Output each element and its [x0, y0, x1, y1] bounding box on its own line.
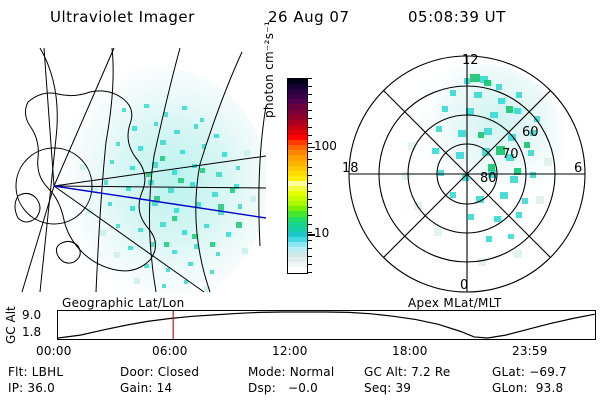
colorbar-axis-label: photon cm⁻²s⁻¹ [262, 0, 276, 118]
colorbar-tick-label: 10 [314, 228, 329, 238]
altitude-tick-high: 9.0 [22, 308, 41, 322]
altitude-curve-svg [58, 311, 595, 339]
colorbar-minor-tick [307, 215, 312, 216]
colorbar-minor-tick [307, 191, 312, 192]
colorbar-minor-tick [307, 118, 312, 119]
mlt-label-0: 0 [460, 278, 468, 293]
altitude-tick-low: 1.8 [22, 325, 41, 339]
time-tick-0600: 06:00 [152, 344, 188, 358]
altitude-axis-label: GC Alt [4, 284, 18, 344]
status-door: Door: Closed [120, 365, 199, 379]
colorbar-minor-tick [307, 167, 312, 168]
observation-date: 26 Aug 07 [268, 8, 350, 26]
colorbar-minor-tick [307, 110, 312, 111]
mlt-label-6: 6 [574, 161, 582, 176]
colorbar-minor-tick [307, 159, 312, 160]
polar-aurora-layer [394, 64, 566, 266]
mlat-ring-label-70: 70 [502, 147, 519, 162]
right-panel-title: Apex MLat/MLT [408, 296, 502, 310]
colorbar-minor-tick [307, 102, 312, 103]
colorbar-minor-tick [307, 272, 312, 273]
status-gain: Gain: 14 [120, 381, 172, 395]
status-seq: Seq: 39 [364, 381, 411, 395]
colorbar-minor-tick [307, 232, 312, 233]
colorbar-minor-tick [307, 224, 312, 225]
colorbar-tick-label: 100 [314, 141, 337, 151]
colorbar-minor-tick [307, 151, 312, 152]
colorbar-minor-tick [307, 183, 312, 184]
status-ip: IP: 36.0 [8, 381, 55, 395]
colorbar-minor-tick [307, 78, 312, 79]
observation-time: 05:08:39 UT [408, 8, 506, 26]
status-filter: Flt: LBHL [8, 365, 63, 379]
time-tick-0000: 00:00 [36, 344, 72, 358]
status-glat: GLat: −69.7 [492, 365, 567, 379]
colorbar-minor-tick [307, 86, 312, 87]
status-glon: GLon: 93.8 [492, 381, 563, 395]
mlt-label-12: 12 [462, 53, 479, 68]
colorbar[interactable]: photon cm⁻²s⁻¹ 10010 [262, 58, 338, 290]
apex-polar-panel[interactable]: 12 6 0 18 60 70 80 [338, 46, 596, 294]
colorbar-minor-tick [307, 207, 312, 208]
colorbar-minor-tick [307, 135, 312, 136]
left-panel-title: Geographic Lat/Lon [62, 296, 185, 310]
colorbar-minor-tick [307, 264, 312, 265]
colorbar-minor-tick [307, 248, 312, 249]
colorbar-minor-tick [307, 199, 312, 200]
geographic-projection-svg [4, 46, 266, 294]
colorbar-minor-tick [307, 127, 312, 128]
instrument-title: Ultraviolet Imager [50, 8, 195, 26]
mlat-ring-label-80: 80 [480, 171, 497, 186]
colorbar-minor-tick [307, 256, 312, 257]
time-tick-1200: 12:00 [272, 344, 308, 358]
colorbar-minor-tick [307, 94, 312, 95]
colorbar-gradient [287, 78, 308, 274]
status-gc-alt: GC Alt: 7.2 Re [364, 365, 450, 379]
uvi-screenshot: Ultraviolet Imager 26 Aug 07 05:08:39 UT [0, 0, 600, 400]
geographic-image-panel[interactable] [4, 46, 266, 294]
status-dsp: Dsp: −0.0 [248, 381, 318, 395]
time-tick-2359: 23:59 [512, 344, 548, 358]
colorbar-segment [288, 267, 307, 272]
colorbar-minor-tick [307, 143, 312, 144]
mlat-ring-label-60: 60 [522, 125, 539, 140]
altitude-curve [58, 312, 595, 338]
status-mode: Mode: Normal [248, 365, 334, 379]
altitude-plot[interactable] [57, 310, 596, 340]
mlt-label-18: 18 [342, 161, 359, 176]
apex-polar-svg: 12 6 0 18 60 70 80 [338, 46, 596, 294]
time-tick-1800: 18:00 [392, 344, 428, 358]
polar-grid-spokes [349, 56, 585, 292]
colorbar-minor-tick [307, 175, 312, 176]
colorbar-minor-tick [307, 240, 312, 241]
